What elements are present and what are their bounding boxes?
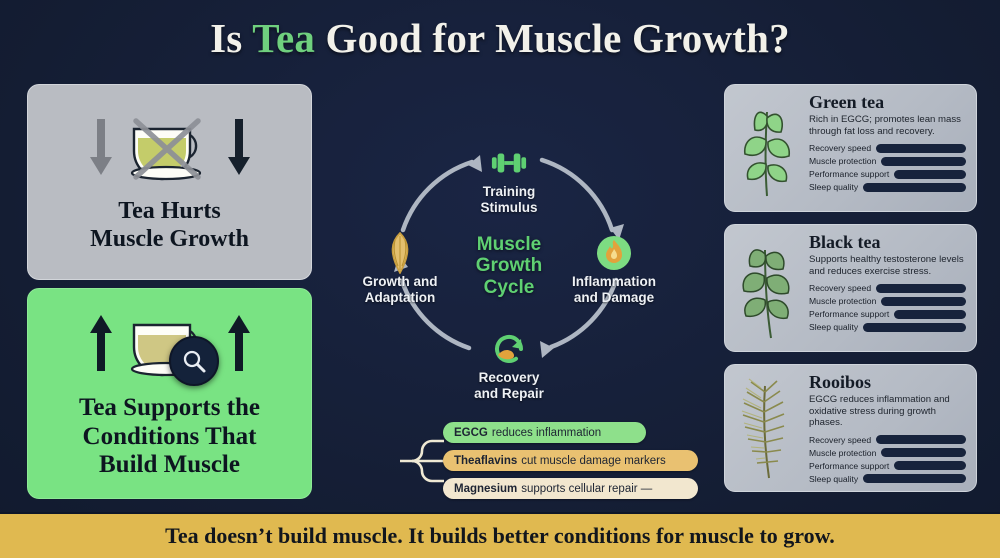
heading-line: Build Muscle xyxy=(79,451,260,480)
tea-card-title: Black tea xyxy=(809,233,966,251)
metric-row: Sleep quality xyxy=(809,322,966,332)
center-line: Muscle xyxy=(459,234,559,255)
metric-label: Muscle protection xyxy=(809,296,876,306)
panel-tea-hurts: Tea Hurts Muscle Growth xyxy=(27,84,312,280)
page-title: Is Tea Good for Muscle Growth? xyxy=(0,14,1000,62)
metric-label: Sleep quality xyxy=(809,474,858,484)
arrow-up-icon xyxy=(88,313,114,380)
metric-label: Recovery speed xyxy=(809,435,871,445)
metric-row: Performance support xyxy=(809,461,966,471)
callout-text: supports cellular repair — xyxy=(521,483,652,495)
heading-line: Conditions That xyxy=(79,423,260,452)
metric-bar xyxy=(881,448,966,457)
center-line: Growth xyxy=(459,255,559,276)
metric-bar xyxy=(863,323,966,332)
tea-card-description: Rich in EGCG; promotes lean mass through… xyxy=(809,114,966,137)
cycle-center-label: Muscle Growth Cycle xyxy=(459,234,559,298)
callout-term: EGCG xyxy=(454,427,488,439)
metric-row: Performance support xyxy=(809,309,966,319)
label-line: Recovery xyxy=(474,370,544,386)
heading-line: Tea Hurts xyxy=(90,198,249,225)
label-line: and Repair xyxy=(474,386,544,402)
left-comparison-column: Tea Hurts Muscle Growth xyxy=(27,84,312,499)
metric-bar xyxy=(876,284,966,293)
metric-bar xyxy=(894,310,966,319)
dumbbell-icon xyxy=(490,144,528,182)
cycle-node-training-stimulus: Training Stimulus xyxy=(439,144,579,215)
metric-label: Performance support xyxy=(809,461,889,471)
cycle-node-label: Recovery and Repair xyxy=(474,370,544,401)
metric-label: Performance support xyxy=(809,169,889,179)
infographic-canvas: Is Tea Good for Muscle Growth? xyxy=(0,0,1000,558)
tea-branch-icon xyxy=(725,225,809,351)
tea-cards-column: Green tea Rich in EGCG; promotes lean ma… xyxy=(724,84,977,504)
metric-row: Recovery speed xyxy=(809,143,966,153)
teacup-art xyxy=(88,307,252,386)
cycle-node-recovery: Recovery and Repair xyxy=(439,330,579,401)
footer-banner: Tea doesn’t build muscle. It builds bett… xyxy=(0,512,1000,558)
title-highlight: Tea xyxy=(252,15,315,61)
cycle-node-inflammation: Inflammation and Damage xyxy=(544,234,684,305)
cycle-node-label: Growth and Adaptation xyxy=(363,274,438,305)
metric-label: Sleep quality xyxy=(809,322,858,332)
metric-row: Recovery speed xyxy=(809,435,966,445)
metric-row: Sleep quality xyxy=(809,182,966,192)
tea-card-description: Supports healthy testosterone levels and… xyxy=(809,254,966,277)
muscle-growth-cycle-diagram: Training Stimulus Inflammation and Damag… xyxy=(336,138,682,388)
metric-label: Recovery speed xyxy=(809,143,871,153)
crossed-out-teacup-icon xyxy=(122,111,218,190)
panel-tea-hurts-heading: Tea Hurts Muscle Growth xyxy=(90,198,249,253)
tea-card-black: Black tea Supports healthy testosterone … xyxy=(724,224,977,352)
tea-card-title: Green tea xyxy=(809,93,966,111)
title-before: Is xyxy=(210,15,252,61)
metric-bar xyxy=(876,435,966,444)
crossed-teacup-art xyxy=(88,111,252,190)
metric-label: Performance support xyxy=(809,309,889,319)
label-line: Growth and xyxy=(363,274,438,290)
metric-row: Muscle protection xyxy=(809,448,966,458)
metric-label: Muscle protection xyxy=(809,448,876,458)
panel-tea-supports: Tea Supports the Conditions That Build M… xyxy=(27,288,312,499)
metric-bar xyxy=(863,183,966,192)
tea-card-title: Rooibos xyxy=(809,373,966,391)
label-line: Adaptation xyxy=(363,290,438,306)
callout-egcg: EGCGreduces inflammation xyxy=(443,422,646,443)
cycle-node-label: Training Stimulus xyxy=(480,184,537,215)
recovery-arm-icon xyxy=(490,330,528,368)
arrow-down-icon xyxy=(88,117,114,184)
center-line: Cycle xyxy=(459,277,559,298)
tea-card-rooibos: Rooibos EGCG reduces inflammation and ox… xyxy=(724,364,977,492)
metric-row: Performance support xyxy=(809,169,966,179)
callout-text: reduces inflammation xyxy=(492,427,601,439)
label-line: Stimulus xyxy=(480,200,537,216)
callout-text: cut muscle damage markers xyxy=(521,455,665,467)
metric-bar xyxy=(863,474,966,483)
arrow-up-icon xyxy=(226,313,252,380)
label-line: and Damage xyxy=(572,290,656,306)
metric-row: Recovery speed xyxy=(809,283,966,293)
metric-row: Muscle protection xyxy=(809,296,966,306)
metric-label: Muscle protection xyxy=(809,156,876,166)
callout-magnesium: Magnesiumsupports cellular repair — xyxy=(443,478,698,499)
arrow-down-icon xyxy=(226,117,252,184)
rooibos-sprig-icon xyxy=(725,365,809,491)
metric-row: Sleep quality xyxy=(809,474,966,484)
metric-label: Recovery speed xyxy=(809,283,871,293)
tea-leaf-sprig-icon xyxy=(725,85,809,211)
tea-card-green: Green tea Rich in EGCG; promotes lean ma… xyxy=(724,84,977,212)
cycle-node-label: Inflammation and Damage xyxy=(572,274,656,305)
metric-bar xyxy=(881,297,966,306)
tea-card-description: EGCG reduces inflammation and oxidative … xyxy=(809,394,966,429)
heading-line: Muscle Growth xyxy=(90,226,249,253)
label-line: Inflammation xyxy=(572,274,656,290)
magnifier-icon xyxy=(169,336,219,386)
panel-tea-supports-heading: Tea Supports the Conditions That Build M… xyxy=(79,394,260,480)
label-line: Training xyxy=(480,184,537,200)
callout-theaflavins: Theaflavinscut muscle damage markers xyxy=(443,450,698,471)
metric-bar xyxy=(894,170,966,179)
metric-bar xyxy=(894,461,966,470)
heading-line: Tea Supports the xyxy=(79,394,260,423)
metric-bar xyxy=(876,144,966,153)
metric-bar xyxy=(881,157,966,166)
callout-term: Magnesium xyxy=(454,483,517,495)
flame-icon xyxy=(595,234,633,272)
metric-row: Muscle protection xyxy=(809,156,966,166)
footer-text: Tea doesn’t build muscle. It builds bett… xyxy=(165,523,835,549)
title-after: Good for Muscle Growth? xyxy=(315,15,790,61)
callout-term: Theaflavins xyxy=(454,455,517,467)
cycle-node-growth: Growth and Adaptation xyxy=(330,234,470,305)
muscle-fiber-icon xyxy=(381,234,419,272)
metric-label: Sleep quality xyxy=(809,182,858,192)
compound-callouts: EGCGreduces inflammation Theaflavinscut … xyxy=(400,420,710,502)
